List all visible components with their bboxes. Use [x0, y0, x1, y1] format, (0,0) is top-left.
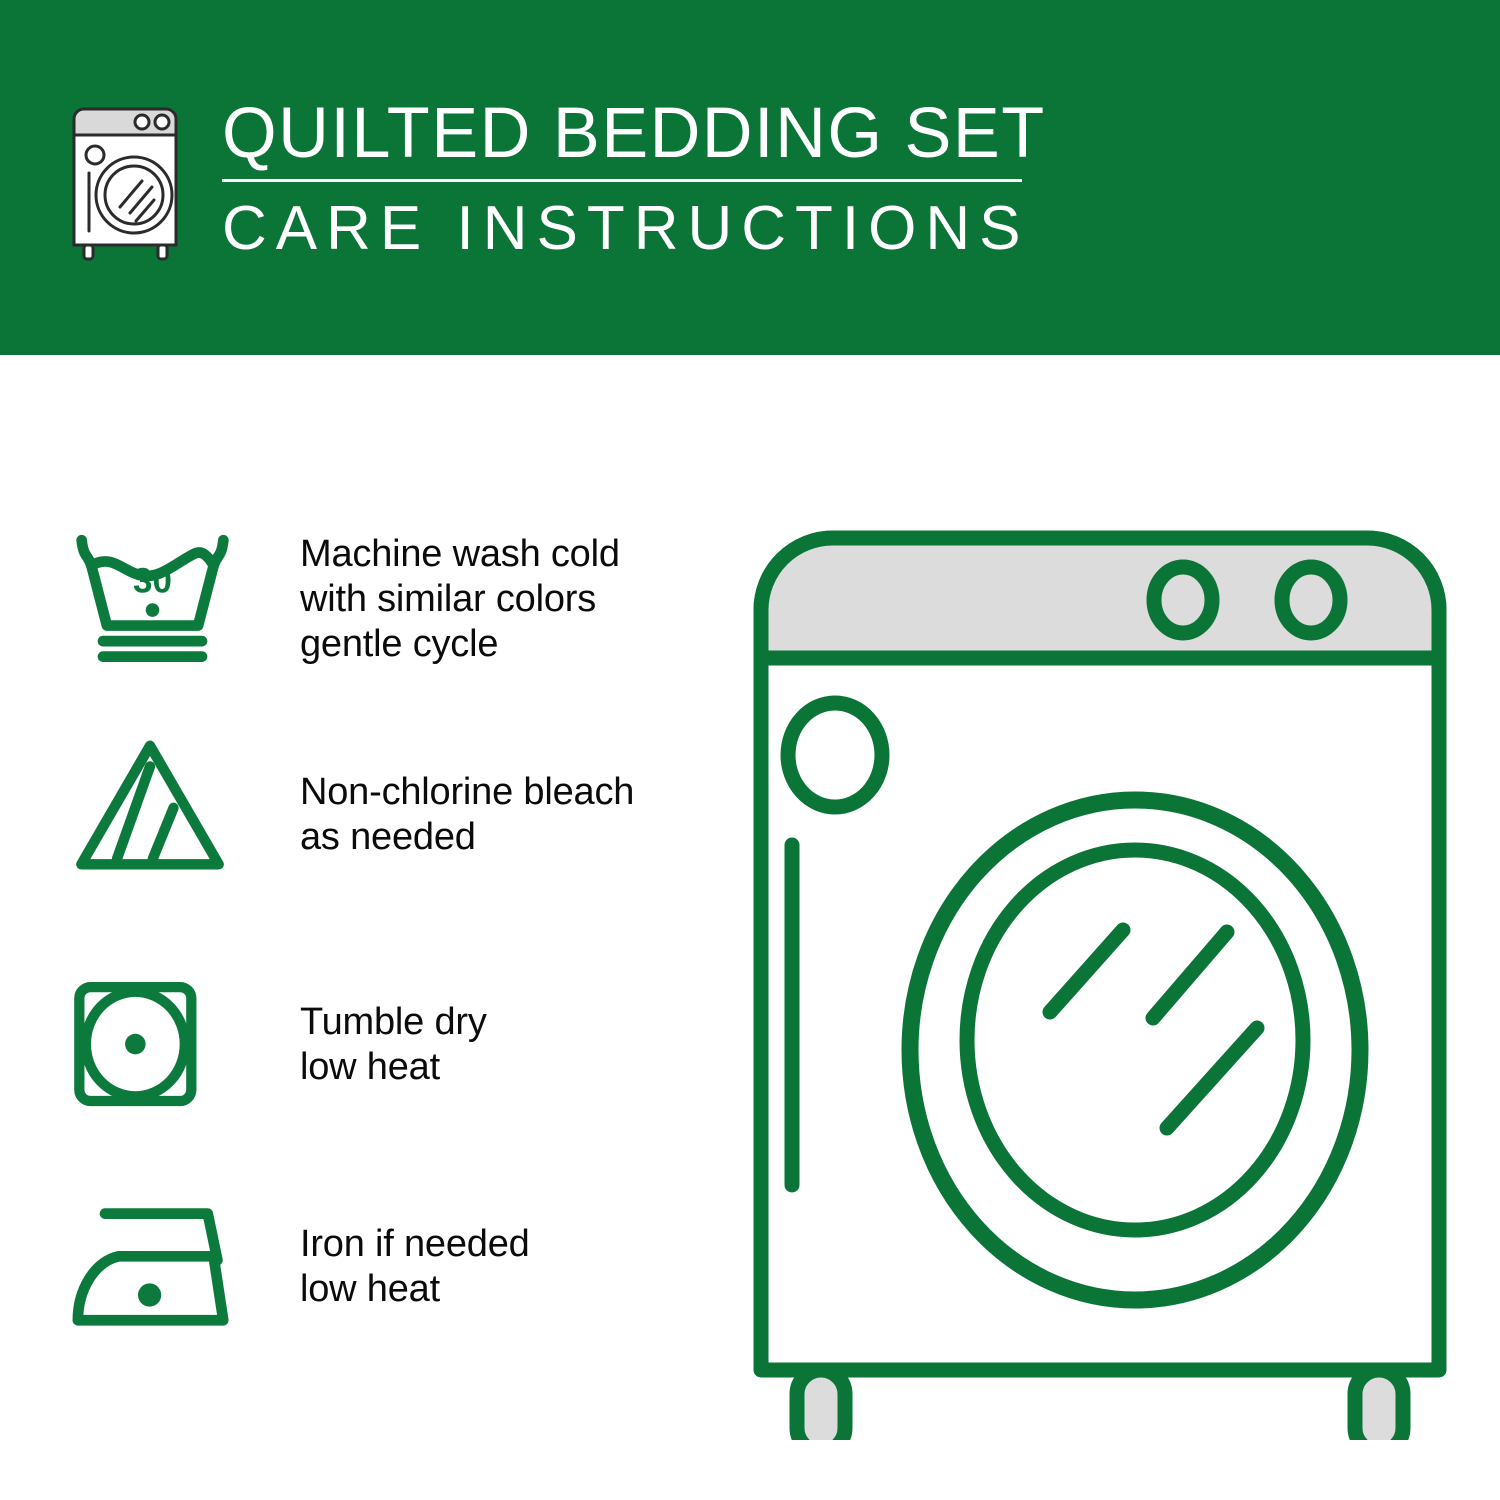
care-line: gentle cycle: [300, 622, 720, 667]
page-subtitle: CARE INSTRUCTIONS: [222, 196, 1082, 262]
care-line: low heat: [300, 1267, 720, 1312]
care-item-text: Iron if needed low heat: [235, 1190, 720, 1312]
care-line: Machine wash cold: [300, 532, 720, 577]
care-line: Tumble dry: [300, 1000, 720, 1045]
care-item-text: Non-chlorine bleach as needed: [235, 730, 720, 860]
care-instruction-list: 30 Machine wash cold with similar colors…: [0, 355, 730, 1500]
machine-wash-30-gentle-icon: 30: [70, 520, 235, 670]
page-title: QUILTED BEDDING SET: [222, 95, 1073, 173]
care-line: as needed: [300, 815, 720, 860]
control-knob-right: [1282, 567, 1340, 633]
care-line: Non-chlorine bleach: [300, 770, 720, 815]
detergent-dispenser-button: [788, 703, 882, 807]
tumble-dry-low-icon: [70, 970, 235, 1120]
header-titles: QUILTED BEDDING SET CARE INSTRUCTIONS: [222, 95, 1082, 262]
header-content: QUILTED BEDDING SET CARE INSTRUCTIONS: [62, 95, 1062, 275]
control-knob-left: [1154, 567, 1212, 633]
care-instructions-infographic: QUILTED BEDDING SET CARE INSTRUCTIONS: [0, 0, 1500, 1500]
care-item-text: Machine wash cold with similar colors ge…: [235, 520, 720, 667]
non-chlorine-bleach-icon: [70, 730, 235, 880]
care-item-text: Tumble dry low heat: [235, 970, 720, 1090]
washing-machine-icon: [62, 103, 197, 263]
care-item-iron: Iron if needed low heat: [70, 1190, 720, 1340]
care-item-machine-wash: 30 Machine wash cold with similar colors…: [70, 520, 720, 670]
header-band: QUILTED BEDDING SET CARE INSTRUCTIONS: [0, 0, 1500, 355]
care-item-tumble-dry: Tumble dry low heat: [70, 970, 720, 1120]
care-item-bleach: Non-chlorine bleach as needed: [70, 730, 720, 880]
front-load-washing-machine-illustration: [735, 490, 1465, 1440]
wash-temperature-label: 30: [133, 562, 172, 601]
title-divider: [222, 179, 1022, 182]
care-line: low heat: [300, 1045, 720, 1090]
leg-right: [1355, 1370, 1403, 1440]
care-line: with similar colors: [300, 577, 720, 622]
leg-left: [797, 1370, 845, 1440]
iron-low-heat-icon: [70, 1190, 235, 1340]
care-line: Iron if needed: [300, 1222, 720, 1267]
